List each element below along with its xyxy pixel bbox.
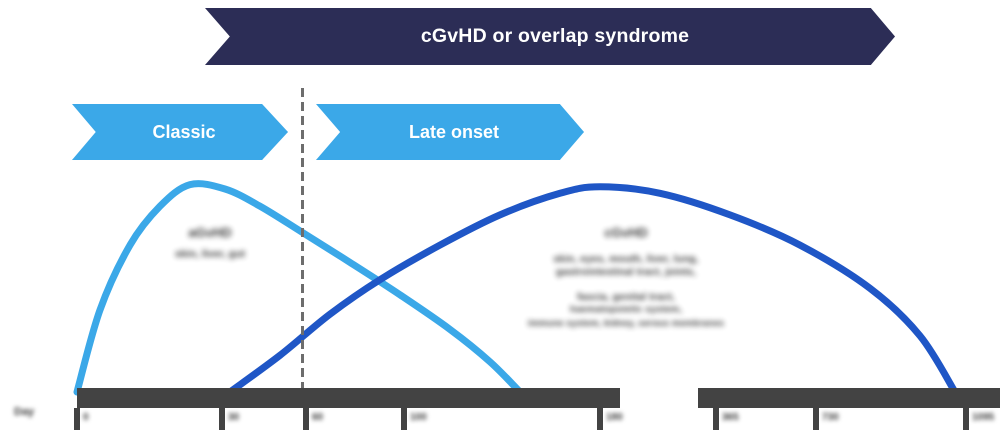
axis-tick-label: 180: [606, 412, 623, 423]
axis-tick: [74, 408, 80, 430]
annotation-late-line2: gastrointestinal tract, joints,: [492, 266, 760, 280]
title-banner: cGvHD or overlap syndrome: [205, 8, 895, 65]
axis-caption: Day: [14, 406, 34, 418]
axis-tick-label: 0: [83, 412, 89, 423]
axis-tick: [963, 408, 969, 430]
page-title: cGvHD or overlap syndrome: [411, 25, 689, 48]
axis-tick: [303, 408, 309, 430]
annotation-late-heading: cGvHD: [492, 224, 760, 242]
axis-tick: [597, 408, 603, 430]
curve-classic: [77, 184, 520, 392]
annotation-classic: aGvHD skin, liver, gut: [135, 224, 285, 261]
phase-chevron-classic[interactable]: Classic: [72, 104, 288, 160]
annotation-late-line3: fascia, genital tract,: [492, 291, 760, 305]
infographic-canvas: cGvHD or overlap syndrome Classic Late o…: [0, 0, 1000, 440]
axis-tick-label: 730: [822, 412, 839, 423]
annotation-late-line4: haematopoietic system,: [492, 304, 760, 317]
phase-label-classic: Classic: [144, 122, 215, 143]
axis-tick-label: 100: [410, 412, 427, 423]
axis-tick: [219, 408, 225, 430]
annotation-late-line5: immune system, kidney, serous membranes: [492, 317, 760, 329]
axis-tick-label: 30: [228, 412, 239, 423]
axis-tick-label: 60: [312, 412, 323, 423]
axis-tick: [401, 408, 407, 430]
axis-tick-label: 365: [722, 412, 739, 423]
annotation-late-onset: cGvHD skin, eyes, mouth, liver, lung, ga…: [492, 224, 760, 329]
annotation-classic-heading: aGvHD: [135, 224, 285, 242]
annotation-classic-subtext: skin, liver, gut: [135, 247, 285, 261]
annotation-late-line1: skin, eyes, mouth, liver, lung,: [492, 253, 760, 267]
axis-segment-early: [77, 388, 620, 408]
curves-plot: [0, 0, 1000, 440]
phase-divider: [301, 88, 304, 400]
phase-label-late-onset: Late onset: [401, 122, 499, 143]
axis-tick-label: 1095: [972, 412, 994, 423]
axis-tick: [713, 408, 719, 430]
axis-segment-late: [698, 388, 1000, 408]
phase-chevron-late-onset[interactable]: Late onset: [316, 104, 584, 160]
axis-tick: [813, 408, 819, 430]
